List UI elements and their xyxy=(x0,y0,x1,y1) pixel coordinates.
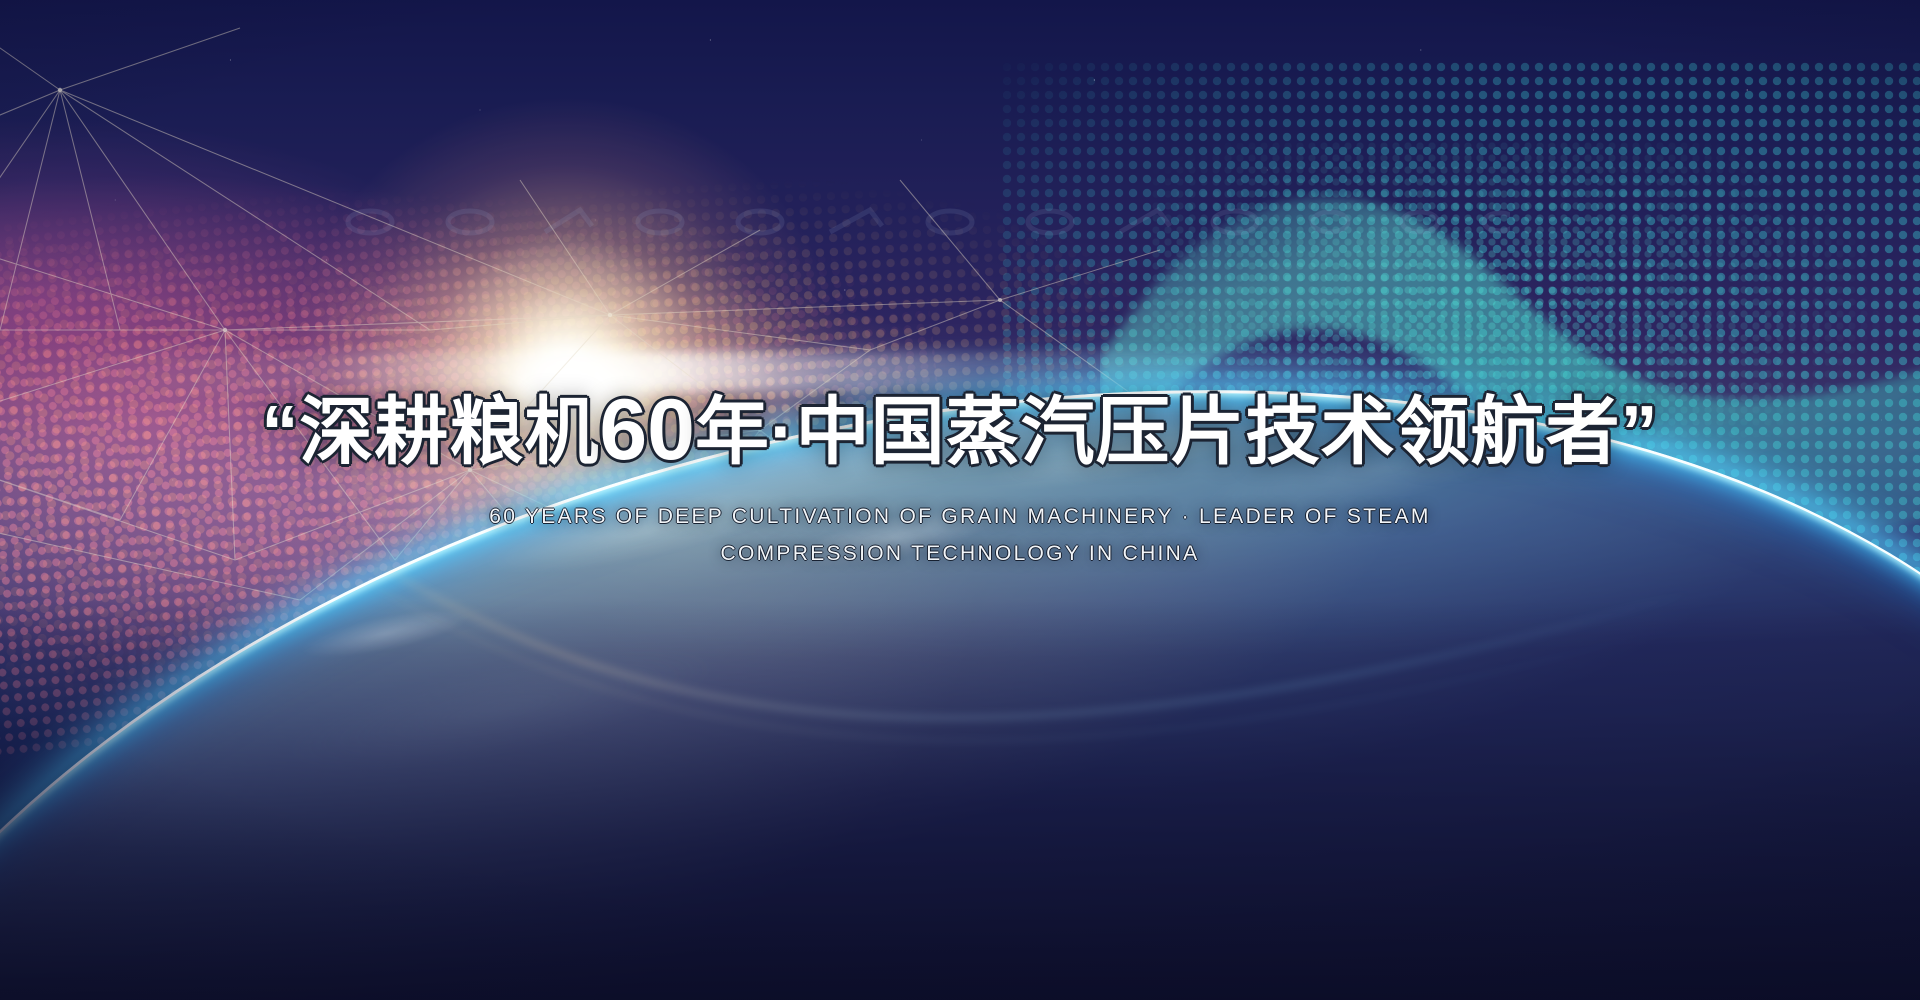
headline-open-quote: “ xyxy=(261,390,299,473)
banner-canvas: “深耕粮机60年·中国蒸汽压片技术领航者” 60 YEARS OF DEEP C… xyxy=(0,0,1920,1000)
earth-surface xyxy=(0,185,1920,1000)
earth-cloud-texture xyxy=(0,185,1920,1000)
earth-outer-atmosphere-glow xyxy=(0,181,1920,1000)
network-wireframe-lines xyxy=(0,0,1200,760)
decorative-glyph-strip xyxy=(330,196,1510,244)
bottom-halftone-field xyxy=(100,620,1600,950)
lower-darkening-overlay xyxy=(0,600,1920,1000)
subtitle-line-2: COMPRESSION TECHNOLOGY IN CHINA xyxy=(0,542,1920,566)
headline-text-part1: 深耕粮机 xyxy=(299,390,599,473)
banner-copy-block: “深耕粮机60年·中国蒸汽压片技术领航者” 60 YEARS OF DEEP C… xyxy=(0,385,1920,566)
headline-text-part2: 年·中国蒸汽压片技术领航者 xyxy=(695,390,1621,473)
subtitle-line-1: 60 YEARS OF DEEP CULTIVATION OF GRAIN MA… xyxy=(0,505,1920,529)
earth-atmosphere-rim xyxy=(0,185,1920,1000)
headline-close-quote: ” xyxy=(1621,390,1659,473)
page-title: “深耕粮机60年·中国蒸汽压片技术领航者” xyxy=(0,385,1920,476)
headline-anniversary-number: 60 xyxy=(599,382,695,478)
